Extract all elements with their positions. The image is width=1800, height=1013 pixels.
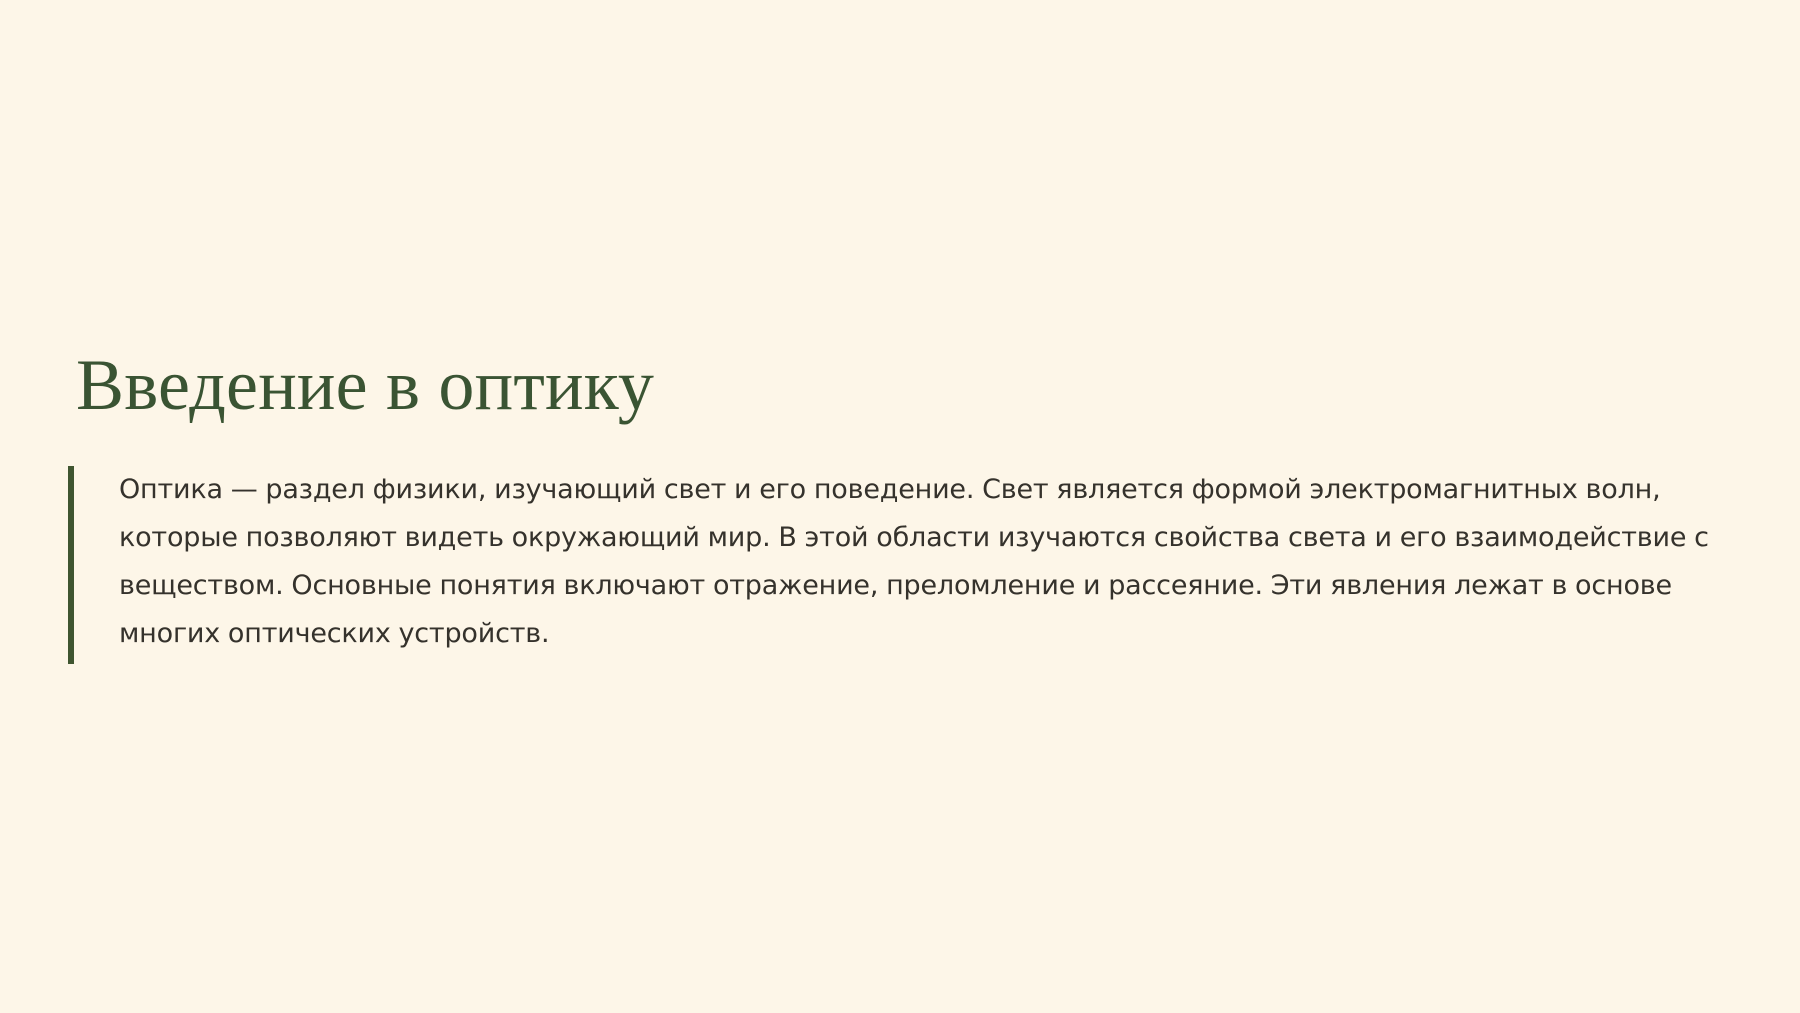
quote-block: Оптика — раздел физики, изучающий свет и…: [68, 466, 1758, 664]
page-title: Введение в оптику: [76, 348, 654, 424]
slide-content: Введение в оптику Оптика — раздел физики…: [0, 0, 1800, 1013]
slide-canvas: Введение в оптику Оптика — раздел физики…: [0, 0, 1800, 1013]
quote-paragraph: Оптика — раздел физики, изучающий свет и…: [74, 466, 1758, 664]
